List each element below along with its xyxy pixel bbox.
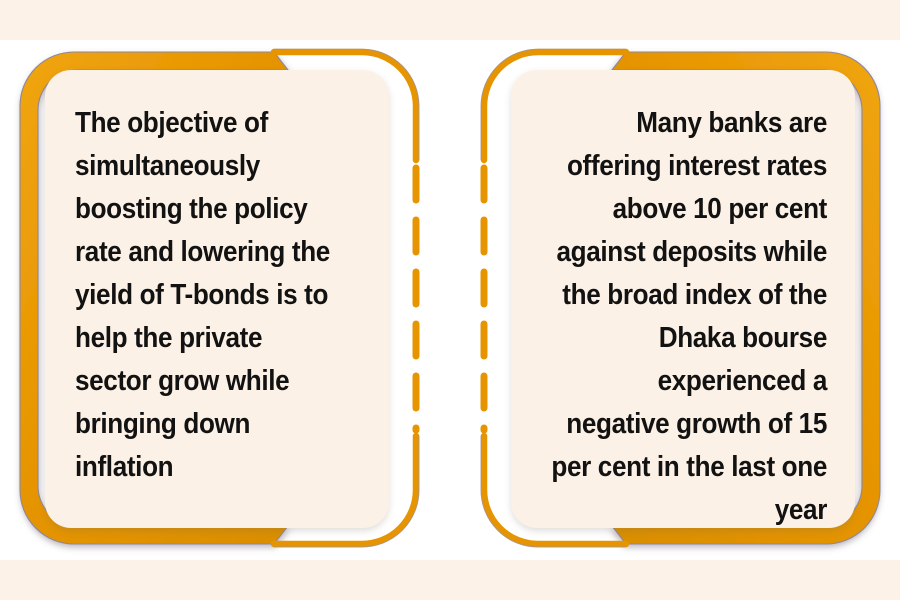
quote-text-left: The objective of simultaneously boosting… — [75, 102, 345, 489]
quote-panel-right: Many banks are offering interest rates a… — [511, 70, 855, 528]
quote-text-right: Many banks are offering interest rates a… — [548, 102, 827, 532]
bottom-cream-band — [0, 560, 900, 600]
infographic-root: The objective of simultaneously boosting… — [0, 0, 900, 600]
quote-panel-left: The objective of simultaneously boosting… — [45, 70, 389, 528]
quote-card-right: Many banks are offering interest rates a… — [480, 48, 884, 548]
quote-card-left: The objective of simultaneously boosting… — [16, 48, 420, 548]
top-cream-band — [0, 0, 900, 40]
